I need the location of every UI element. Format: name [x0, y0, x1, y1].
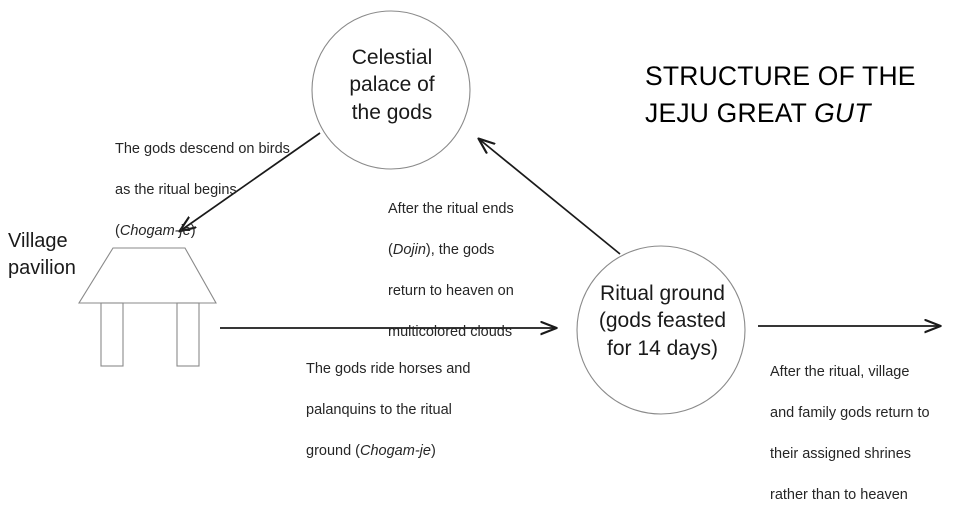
annotation-gods-ride-horses-line-3-close: ): [431, 443, 436, 459]
diagram-title-line-2-italic: GUT: [814, 98, 871, 128]
diagram-title-line-1: STRUCTURE OF THE: [645, 61, 916, 91]
annotation-return-to-heaven-term: Dojin: [393, 242, 426, 258]
annotation-gods-descend: The gods descend on birds as the ritual …: [115, 118, 305, 241]
annotation-return-to-heaven: After the ritual ends (Dojin), the gods …: [388, 178, 548, 343]
pavilion-left-leg-shape[interactable]: [101, 303, 123, 366]
annotation-gods-ride-horses: The gods ride horses and palanquins to t…: [306, 338, 486, 461]
diagram-title: STRUCTURE OF THE JEJU GREAT GUT: [645, 58, 945, 132]
annotation-return-to-heaven-line-3: return to heaven on: [388, 283, 514, 299]
pavilion-right-leg-shape[interactable]: [177, 303, 199, 366]
annotation-assigned-shrines: After the ritual, village and family god…: [770, 341, 950, 506]
annotation-gods-descend-line-3-close: ): [191, 223, 196, 239]
annotation-return-to-heaven-line-2-close: ), the gods: [426, 242, 495, 258]
ritual-ground-circle[interactable]: [577, 246, 745, 414]
annotation-gods-ride-horses-term: Chogam-je: [360, 443, 431, 459]
annotation-assigned-shrines-line-2: and family gods return to: [770, 405, 930, 421]
celestial-palace-circle[interactable]: [312, 11, 470, 169]
diagram-title-line-2-plain: JEJU GREAT: [645, 98, 814, 128]
annotation-assigned-shrines-line-3: their assigned shrines: [770, 446, 911, 462]
annotation-assigned-shrines-line-1: After the ritual, village: [770, 364, 909, 380]
annotation-gods-descend-term: Chogam-je: [120, 223, 191, 239]
annotation-gods-ride-horses-line-2: palanquins to the ritual: [306, 402, 452, 418]
pavilion-roof-shape[interactable]: [79, 248, 216, 303]
annotation-gods-ride-horses-line-3-open: ground (: [306, 443, 360, 459]
annotation-assigned-shrines-line-4: rather than to heaven: [770, 487, 908, 503]
annotation-return-to-heaven-line-1: After the ritual ends: [388, 201, 514, 217]
annotation-gods-ride-horses-line-1: The gods ride horses and: [306, 361, 470, 377]
annotation-gods-descend-line-1: The gods descend on birds: [115, 141, 290, 157]
annotation-gods-descend-line-2: as the ritual begins: [115, 182, 237, 198]
